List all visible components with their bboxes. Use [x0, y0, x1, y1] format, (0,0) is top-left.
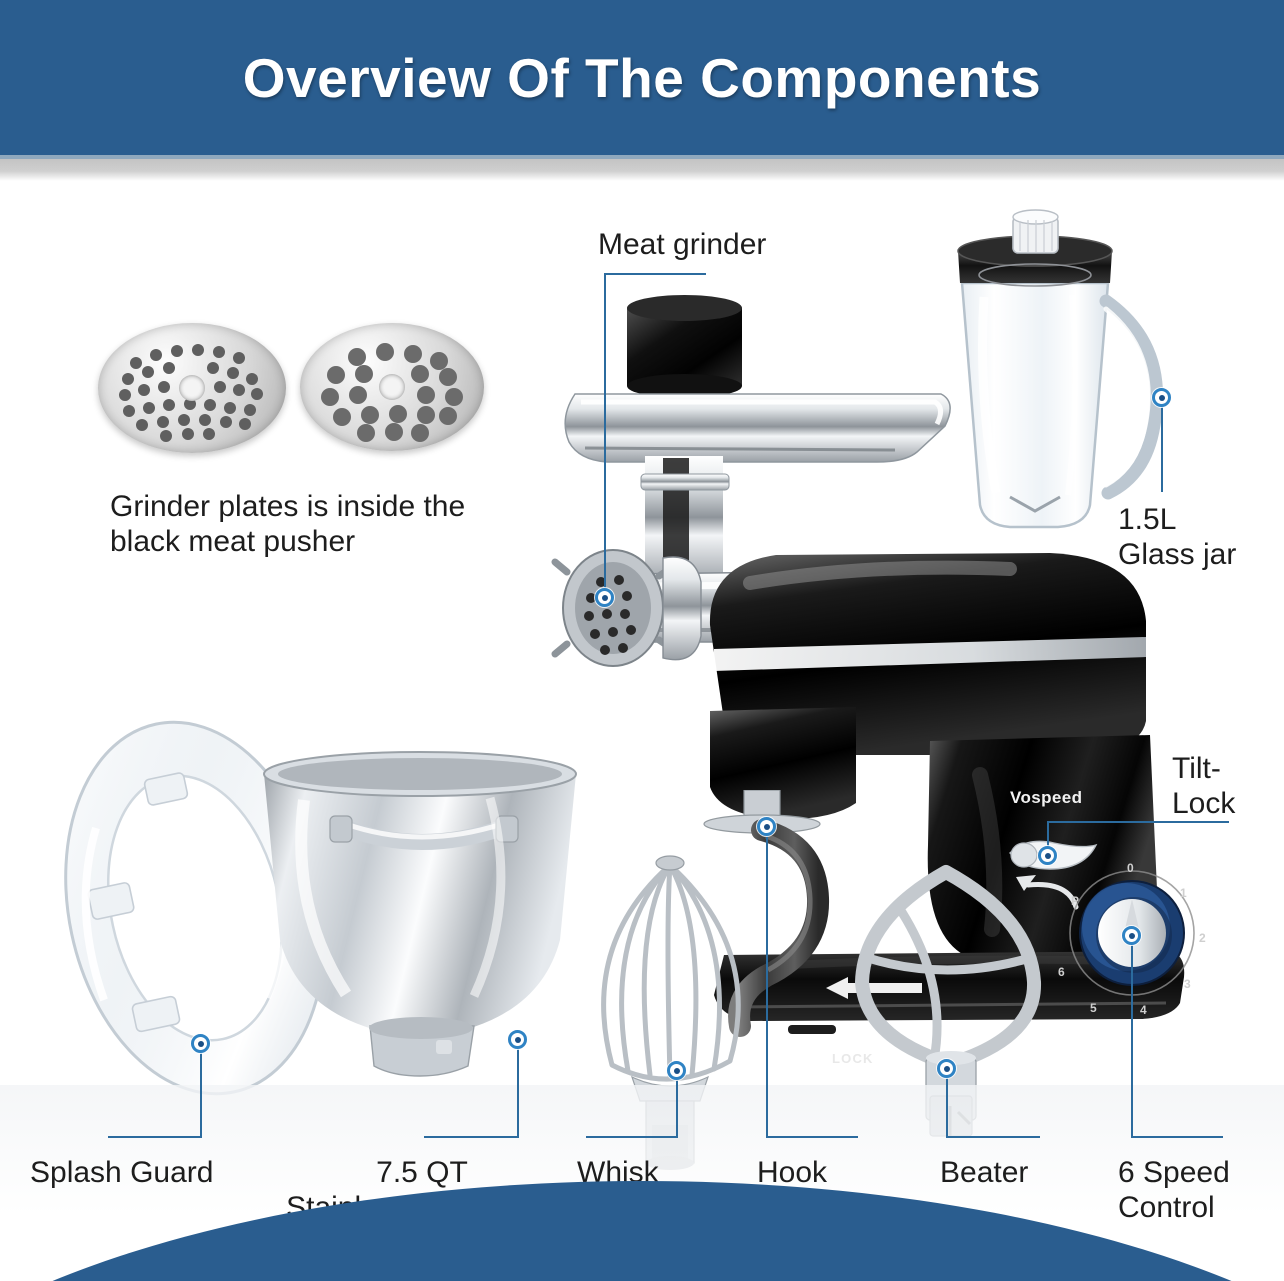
dial-mark-3: 3	[1184, 977, 1191, 991]
dial-mark-1: 1	[1180, 886, 1187, 900]
callout-label-meat-grinder: Meat grinder	[598, 228, 766, 263]
dial-mark-6: 6	[1058, 965, 1065, 979]
blender-jar	[940, 205, 1170, 535]
callout-marker-beater[interactable]	[937, 1059, 956, 1078]
dial-mark-5: 5	[1090, 1001, 1097, 1015]
product-illustration: Vospeed LOCK P 0 1 2 3 4 5 6	[0, 0, 1284, 1281]
leader-line-whisk-h	[586, 1136, 678, 1138]
leader-line-bowl-v	[517, 1048, 519, 1136]
leader-line-beater-h	[946, 1136, 1040, 1138]
leader-line-hook-h	[766, 1136, 858, 1138]
callout-marker-whisk[interactable]	[667, 1061, 686, 1080]
dial-mark-0: 0	[1127, 861, 1134, 875]
callout-marker-glass-jar[interactable]	[1152, 388, 1171, 407]
leader-line-splash-guard-h	[108, 1136, 202, 1138]
leader-line-meat-grinder-h	[604, 273, 706, 275]
callout-marker-speed-control[interactable]	[1122, 926, 1141, 945]
leader-line-meat-grinder-v	[604, 273, 606, 597]
callout-label-glass-jar: 1.5L Glass jar	[1118, 503, 1236, 573]
leader-line-glass-jar-v	[1161, 400, 1163, 492]
leader-line-speed-control-h	[1131, 1136, 1223, 1138]
leader-line-splash-guard-v	[200, 1052, 202, 1136]
callout-marker-meat-grinder[interactable]	[595, 588, 614, 607]
callout-marker-hook[interactable]	[757, 817, 776, 836]
brand-wordmark: Vospeed	[1010, 788, 1082, 808]
callout-label-beater: Beater	[940, 1156, 1028, 1191]
leader-line-speed-control-v	[1131, 944, 1133, 1136]
callout-marker-splash-guard[interactable]	[191, 1034, 210, 1053]
callout-marker-tilt-lock[interactable]	[1038, 846, 1057, 865]
dial-mark-4: 4	[1140, 1003, 1147, 1017]
leader-line-whisk-v	[676, 1079, 678, 1136]
leader-line-beater-v	[946, 1077, 948, 1136]
callout-marker-bowl[interactable]	[508, 1030, 527, 1049]
leader-line-tilt-lock-h	[1047, 821, 1229, 823]
infographic-page: Overview Of The Components	[0, 0, 1284, 1281]
leader-line-bowl-h	[424, 1136, 519, 1138]
dial-mark-P: P	[1071, 894, 1079, 908]
leader-line-hook-v	[766, 835, 768, 1136]
grinder-plate-center-hole	[379, 374, 405, 400]
grinder-plate-center-hole	[179, 375, 205, 401]
callout-label-tilt-lock: Tilt- Lock	[1172, 752, 1235, 822]
grinder-plates-caption: Grinder plates is inside the black meat …	[110, 490, 530, 560]
dial-mark-2: 2	[1199, 931, 1206, 945]
stainless-steel-bowl	[250, 740, 590, 1110]
callout-label-splash-guard: Splash Guard	[30, 1156, 213, 1191]
grinder-plate-coarse	[300, 323, 484, 451]
callout-label-speed-control: 6 Speed Control	[1118, 1156, 1230, 1226]
grinder-plate-fine	[98, 323, 286, 453]
